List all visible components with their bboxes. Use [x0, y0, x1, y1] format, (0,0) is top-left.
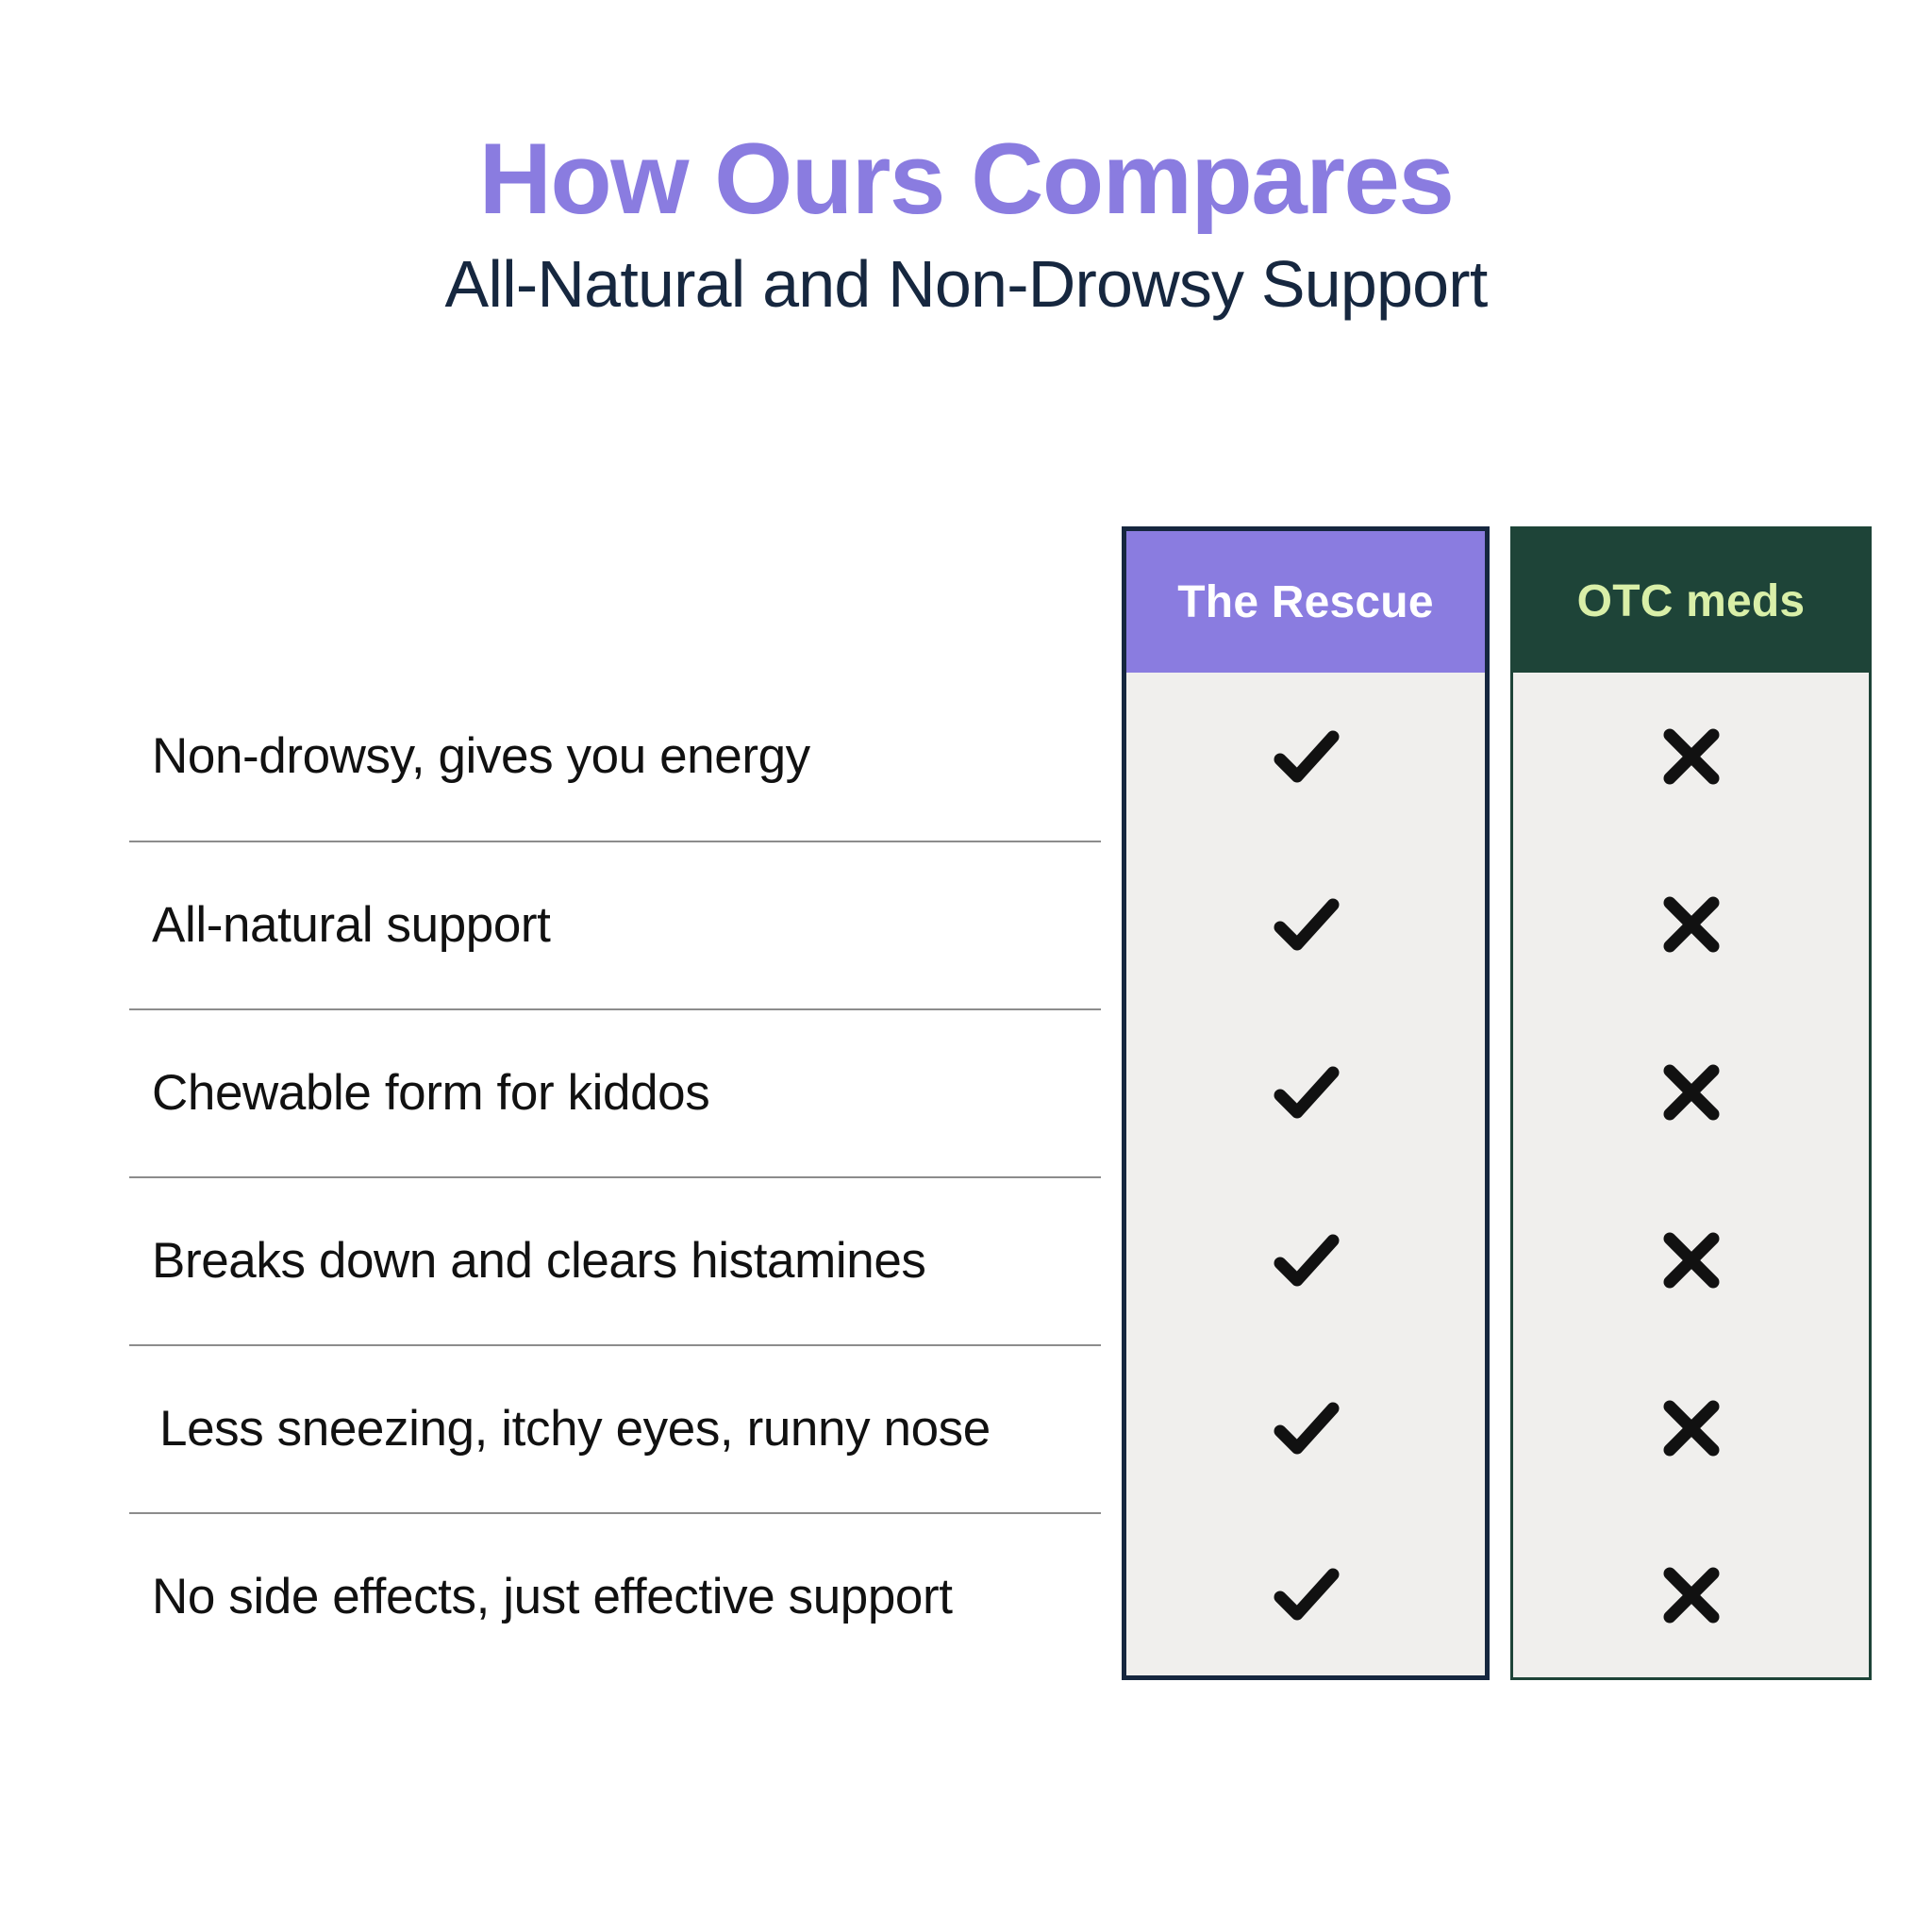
value-cell-otc: [1510, 1512, 1872, 1680]
cross-icon: [1655, 720, 1728, 793]
column-gap: [1490, 1512, 1510, 1680]
table-row: Less sneezing, itchy eyes, runny nose: [129, 1344, 1856, 1512]
column-gap: [1101, 841, 1122, 1008]
column-gap: [1490, 1176, 1510, 1344]
column-gap: [1101, 1176, 1122, 1344]
column-gap: [1490, 526, 1510, 673]
comparison-table: The Rescue OTC meds Non-drowsy, gives yo…: [129, 526, 1856, 1680]
feature-label: Non-drowsy, gives you energy: [152, 726, 810, 787]
column-gap: [1101, 1512, 1122, 1680]
page-title: How Ours Compares: [0, 125, 1932, 234]
checkmark-icon: [1266, 1220, 1347, 1301]
header-feature-cell: [129, 526, 1101, 673]
feature-cell: No side effects, just effective support: [129, 1512, 1101, 1680]
column-gap: [1490, 673, 1510, 841]
feature-label: No side effects, just effective support: [152, 1567, 953, 1627]
value-cell-otc: [1510, 841, 1872, 1008]
table-row: Chewable form for kiddos: [129, 1008, 1856, 1176]
feature-label: Less sneezing, itchy eyes, runny nose: [159, 1399, 991, 1459]
feature-label: All-natural support: [152, 895, 551, 956]
table-row: Breaks down and clears histamines: [129, 1176, 1856, 1344]
value-cell-otc: [1510, 673, 1872, 841]
value-cell-rescue: [1122, 673, 1490, 841]
table-row: No side effects, just effective support: [129, 1512, 1856, 1680]
column-gap: [1490, 841, 1510, 1008]
value-cell-rescue: [1122, 1344, 1490, 1512]
cross-icon: [1655, 1558, 1728, 1632]
value-cell-rescue: [1122, 1176, 1490, 1344]
checkmark-icon: [1266, 1388, 1347, 1469]
column-gap: [1490, 1344, 1510, 1512]
table-row: All-natural support: [129, 841, 1856, 1008]
feature-label: Breaks down and clears histamines: [152, 1231, 926, 1291]
table-row: Non-drowsy, gives you energy: [129, 673, 1856, 841]
comparison-infographic: How Ours Compares All-Natural and Non-Dr…: [0, 0, 1932, 1932]
header-cell-rescue: The Rescue: [1122, 526, 1490, 673]
column-gap: [1101, 1008, 1122, 1176]
feature-cell: Less sneezing, itchy eyes, runny nose: [129, 1344, 1101, 1512]
column-gap: [1101, 673, 1122, 841]
page-subtitle: All-Natural and Non-Drowsy Support: [0, 247, 1932, 321]
value-cell-otc: [1510, 1008, 1872, 1176]
value-cell-otc: [1510, 1344, 1872, 1512]
header-cell-otc: OTC meds: [1510, 526, 1872, 673]
value-cell-otc: [1510, 1176, 1872, 1344]
table-header-row: The Rescue OTC meds: [129, 526, 1856, 673]
cross-icon: [1655, 1224, 1728, 1297]
cross-icon: [1655, 888, 1728, 961]
column-gap: [1101, 526, 1122, 673]
column-header-label-otc: OTC meds: [1577, 575, 1806, 627]
value-cell-rescue: [1122, 841, 1490, 1008]
feature-cell: Breaks down and clears histamines: [129, 1176, 1101, 1344]
value-cell-rescue: [1122, 1512, 1490, 1680]
column-gap: [1101, 1344, 1122, 1512]
value-cell-rescue: [1122, 1008, 1490, 1176]
feature-cell: Chewable form for kiddos: [129, 1008, 1101, 1176]
cross-icon: [1655, 1056, 1728, 1129]
checkmark-icon: [1266, 884, 1347, 965]
feature-cell: All-natural support: [129, 841, 1101, 1008]
feature-cell: Non-drowsy, gives you energy: [129, 673, 1101, 841]
checkmark-icon: [1266, 716, 1347, 797]
column-header-label-rescue: The Rescue: [1177, 576, 1433, 628]
cross-icon: [1655, 1391, 1728, 1465]
checkmark-icon: [1266, 1554, 1347, 1635]
heading-block: How Ours Compares All-Natural and Non-Dr…: [0, 125, 1932, 321]
column-gap: [1490, 1008, 1510, 1176]
checkmark-icon: [1266, 1052, 1347, 1133]
feature-label: Chewable form for kiddos: [152, 1063, 709, 1124]
